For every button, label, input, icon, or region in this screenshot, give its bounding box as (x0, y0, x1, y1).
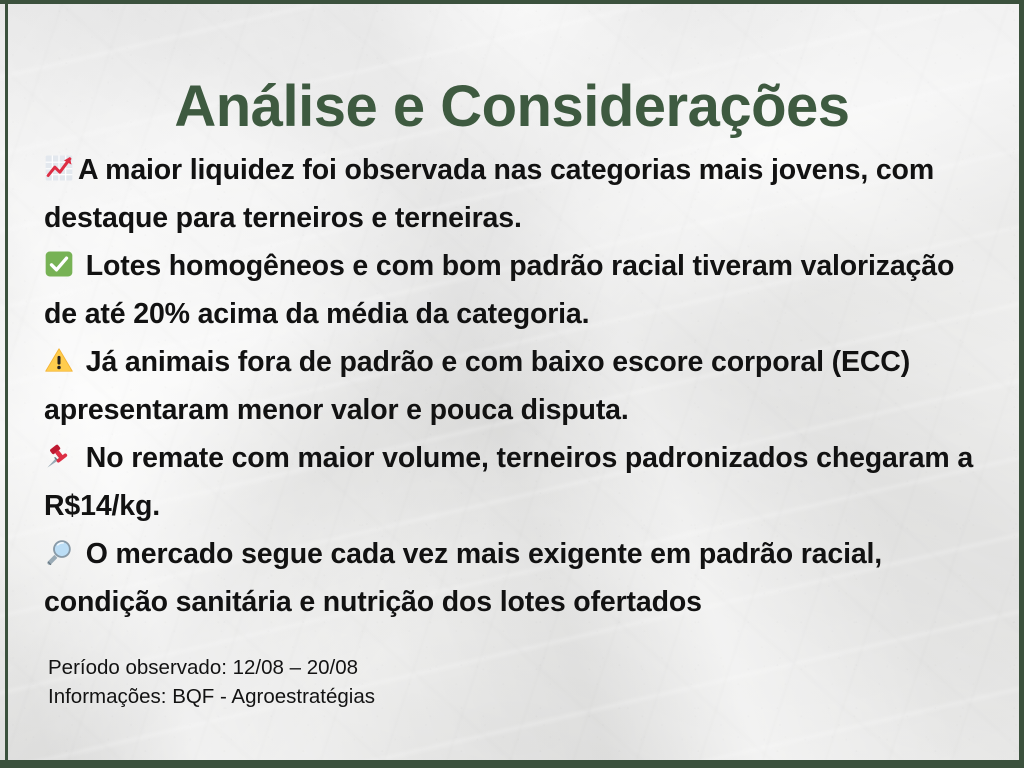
warning-triangle-icon (44, 345, 74, 375)
bullet-text: Lotes homogêneos e com bom padrão racial… (44, 250, 954, 330)
bullet-item: Já animais fora de padrão e com baixo es… (44, 339, 974, 434)
bullet-text: Já animais fora de padrão e com baixo es… (44, 346, 910, 426)
magnifying-glass-icon (44, 537, 74, 567)
check-mark-button-icon (44, 249, 74, 279)
chart-increasing-icon (44, 153, 74, 183)
bullet-list: A maior liquidez foi observada nas categ… (44, 147, 974, 627)
pushpin-icon (44, 441, 74, 471)
slide-footer: Período observado: 12/08 – 20/08 Informa… (48, 653, 375, 711)
slide-analise-consideracoes: Análise e Considerações (0, 0, 1024, 768)
slide-title: Análise e Considerações (0, 77, 1024, 138)
footer-source-line: Informações: BQF - Agroestratégias (48, 682, 375, 711)
bullet-item: O mercado segue cada vez mais exigente e… (44, 531, 974, 626)
bullet-item: No remate com maior volume, terneiros pa… (44, 435, 974, 530)
bullet-item: Lotes homogêneos e com bom padrão racial… (44, 243, 974, 338)
slide-content: Análise e Considerações (0, 0, 1024, 768)
bullet-item: A maior liquidez foi observada nas categ… (44, 147, 974, 242)
footer-period-line: Período observado: 12/08 – 20/08 (48, 653, 375, 682)
bullet-text: No remate com maior volume, terneiros pa… (44, 442, 973, 522)
bullet-text: A maior liquidez foi observada nas categ… (44, 154, 934, 234)
bullet-text: O mercado segue cada vez mais exigente e… (44, 538, 882, 618)
